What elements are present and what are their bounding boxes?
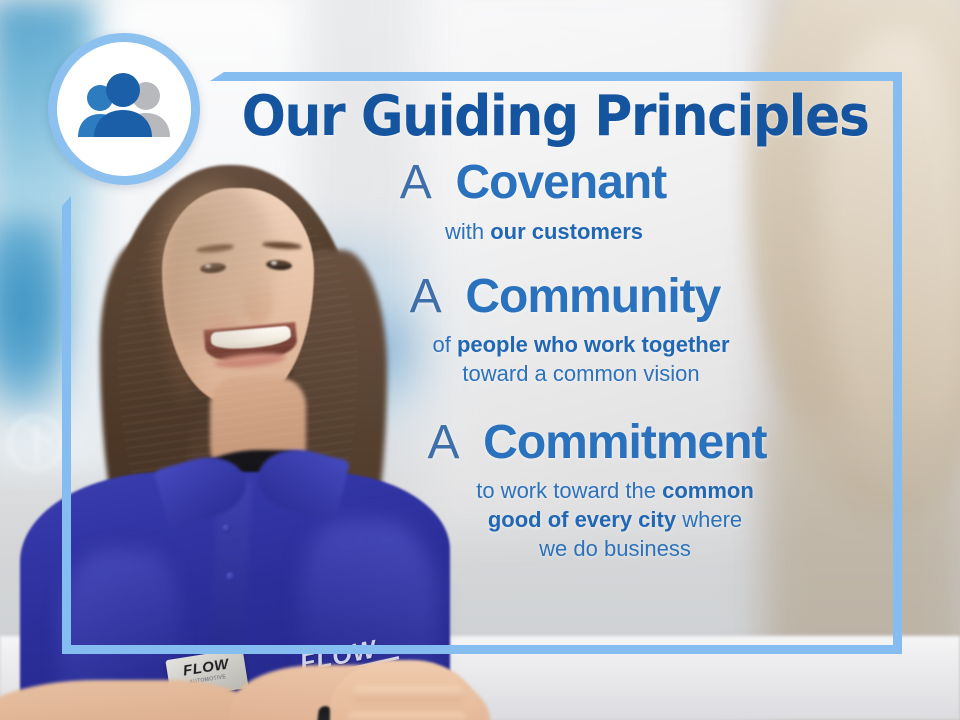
principle-commitment: A Commitment to work toward the commongo…: [210, 417, 900, 564]
principle-covenant: A Covenant with our customers: [210, 157, 900, 246]
principle-article: A: [427, 416, 470, 469]
principle-community: A Community of people who work togethert…: [210, 271, 900, 389]
guiding-principles-graphic: FLOW AUTOMOTIVE FLOW: [0, 0, 960, 720]
principle-description: to work toward the commongood of every c…: [210, 477, 900, 563]
principle-keyword: Community: [465, 270, 720, 323]
principle-keyword: Commitment: [483, 416, 766, 469]
principle-headline: A Commitment: [210, 417, 900, 469]
people-group-icon: [70, 69, 178, 149]
principle-description: with our customers: [210, 218, 900, 247]
principle-article: A: [400, 156, 443, 209]
principle-headline: A Covenant: [210, 157, 900, 209]
principle-description: of people who work togethertoward a comm…: [210, 331, 900, 388]
finger-1: [352, 686, 464, 702]
people-group-badge: [48, 33, 200, 185]
principle-keyword: Covenant: [456, 156, 667, 209]
principle-article: A: [410, 270, 453, 323]
finger-2: [346, 712, 468, 720]
text-content: Our Guiding Principles A Covenant with o…: [210, 82, 900, 642]
principle-headline: A Community: [210, 271, 900, 323]
page-title: Our Guiding Principles: [234, 88, 876, 145]
arm-left: [0, 680, 260, 720]
